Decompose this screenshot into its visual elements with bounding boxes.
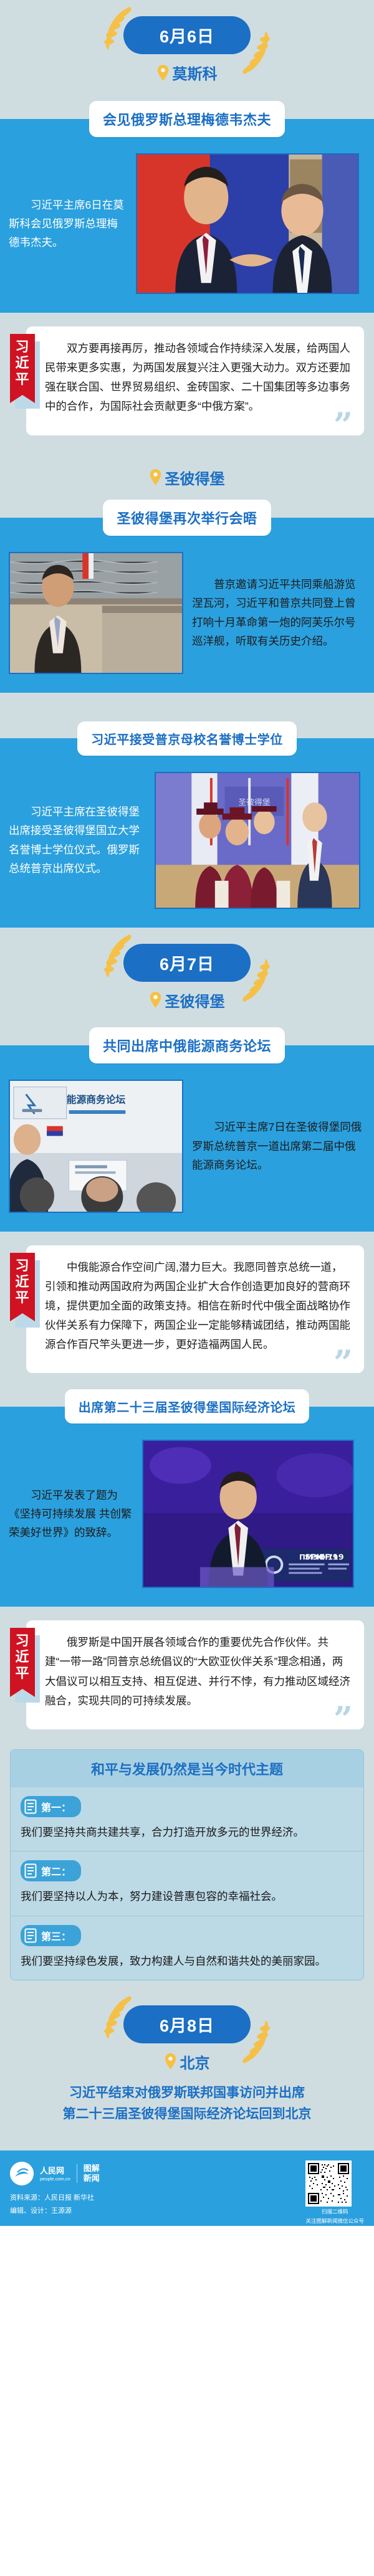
section-title: 圣彼得堡再次举行会晤	[103, 500, 271, 536]
section-3-spacer	[0, 693, 374, 721]
final-title-line1: 习近平结束对俄罗斯联邦国事访问并出席	[0, 2081, 374, 2103]
section-2-content: 普京邀请习近平共同乘船游览涅瓦河，习近平和普京共同登上曾打响十月革命第一炮的阿芙…	[0, 536, 374, 693]
caption-photo-row: 习近平主席在圣彼得堡出席接受圣彼得堡国立大学名誉博士学位仪式。俄罗斯总统普京出席…	[0, 772, 374, 909]
theme-chip: 第二：	[21, 1860, 81, 1881]
location-st-petersburg: 圣彼得堡	[0, 467, 374, 488]
section-4-content: 能源商务论坛 习近平主席7日在圣彼得堡同俄罗斯总统普京一道出席第二届中	[0, 1063, 374, 1232]
section-title: 习近平接受普京母校名誉博士学位	[77, 721, 297, 756]
brand-text: 人民网 people.com.cn	[40, 2166, 70, 2182]
qr-code-image[interactable]	[305, 2160, 352, 2207]
speaker-name-tag: 习近平	[10, 334, 35, 395]
location-moscow: 莫斯科	[0, 62, 374, 83]
photo-caption-row: 能源商务论坛 习近平主席7日在圣彼得堡同俄罗斯总统普京一道出席第二届中	[0, 1080, 374, 1213]
location-pin-icon	[157, 65, 169, 81]
section-3-content: 习近平主席在圣彼得堡出席接受圣彼得堡国立大学名誉博士学位仪式。俄罗斯总统普京出席…	[0, 756, 374, 928]
date-label: 6月7日	[123, 944, 251, 982]
themes-card: 和平与发展仍然是当今时代主题 第一： 我们要坚持共商共建共享，合力打造开放多元的…	[10, 1749, 364, 1980]
date-badge-june8: 6月8日	[0, 1980, 374, 2043]
location-pin-icon	[165, 2053, 176, 2070]
location-label: 莫斯科	[173, 62, 218, 83]
location-beijing: 北京	[0, 2051, 374, 2073]
quote-close-icon: ”	[333, 408, 353, 442]
location-pin-icon	[150, 992, 161, 1008]
caption-text: 习近平主席在圣彼得堡出席接受圣彼得堡国立大学名誉博士学位仪式。俄罗斯总统普京出席…	[9, 802, 146, 877]
theme-chip: 第三：	[21, 1925, 81, 1946]
date-label: 6月8日	[123, 2005, 251, 2043]
theme-text: 我们要坚持共商共建共享，合力打造开放多元的世界经济。	[21, 1823, 353, 1841]
themes-heading: 和平与发展仍然是当今时代主题	[11, 1750, 363, 1787]
theme-chip: 第一：	[21, 1796, 81, 1817]
speaker-name-tag: 习近平	[10, 1253, 35, 1314]
document-icon	[24, 1863, 37, 1878]
qr-caption-line1: 扫描二维码	[305, 2208, 364, 2216]
location-label: 圣彼得堡	[165, 989, 225, 1011]
photo-neva-cruise	[9, 552, 183, 674]
theme-item: 第一： 我们要坚持共商共建共享，合力打造开放多元的世界经济。	[11, 1787, 363, 1851]
location-label: 圣彼得堡	[165, 467, 225, 488]
caption-text: 习近平主席6日在莫斯科会见俄罗斯总理梅德韦杰夫。	[9, 196, 127, 252]
section-5-content: 习近平发表了题为《坚持可持续发展 共创繁荣美好世界》的致辞。 SPIEF'19 …	[0, 1423, 374, 1607]
photo-meeting-medvedev	[136, 153, 359, 294]
svg-text:能源商务论坛: 能源商务论坛	[67, 1093, 126, 1105]
themes-section: 和平与发展仍然是当今时代主题 第一： 我们要坚持共商共建共享，合力打造开放多元的…	[0, 1746, 374, 1980]
document-icon	[24, 1799, 37, 1814]
theme-label: 第一：	[41, 1799, 71, 1814]
caption-text: 习近平主席7日在圣彼得堡同俄罗斯总统普京一道出席第二届中俄能源商务论坛。	[192, 1118, 365, 1174]
date-label: 6月6日	[123, 16, 251, 54]
photo-energy-forum: 能源商务论坛	[9, 1080, 183, 1213]
section-1-header: 6月6日 莫斯科	[0, 0, 374, 101]
final-title-line2: 第二十三届圣彼得堡国际经济论坛回到北京	[0, 2103, 374, 2124]
theme-label: 第三：	[41, 1928, 71, 1943]
caption-text: 习近平发表了题为《坚持可持续发展 共创繁荣美好世界》的致辞。	[9, 1486, 133, 1542]
theme-text: 我们要坚持绿色发展，致力构建人与自然和谐共处的美丽家园。	[21, 1952, 353, 1970]
quote-block-3: 习近平 “ 俄罗斯是中国开展各领域合作的重要优先合作伙伴。共建“一带一路”同普京…	[0, 1607, 374, 1746]
people-daily-logo-icon	[10, 2162, 34, 2185]
caption-photo-row: 习近平主席6日在莫斯科会见俄罗斯总理梅德韦杰夫。	[0, 153, 374, 294]
section-1-content: 习近平主席6日在莫斯科会见俄罗斯总理梅德韦杰夫。	[0, 137, 374, 313]
quote-block-2: 习近平 “ 中俄能源合作空间广阔,潜力巨大。我愿同普京总统一道，引领和推动两国政…	[0, 1232, 374, 1390]
footer-divider	[77, 2164, 77, 2183]
location-pin-icon	[150, 469, 161, 485]
svg-text:圣彼得堡: 圣彼得堡	[238, 797, 271, 807]
theme-item: 第二： 我们要坚持以人为本，努力建设普惠包容的幸福社会。	[11, 1851, 363, 1916]
photo-caption-row: 普京邀请习近平共同乘船游览涅瓦河，习近平和普京共同登上曾打响十月革命第一炮的阿芙…	[0, 552, 374, 674]
date-badge-june6: 6月6日	[0, 0, 374, 54]
svg-text:ПМЭФ'19: ПМЭФ'19	[299, 1553, 338, 1562]
photo-spief-speech: SPIEF'19 ПМЭФ'19	[142, 1440, 354, 1588]
quote-text: 中俄能源合作空间广阔,潜力巨大。我愿同普京总统一道，引领和推动两国政府为两国企业…	[26, 1245, 364, 1374]
caption-photo-row: 习近平发表了题为《坚持可持续发展 共创繁荣美好世界》的致辞。 SPIEF'19 …	[0, 1440, 374, 1588]
qr-code-block[interactable]: 扫描二维码 关注图解新闻微信公众号	[305, 2160, 364, 2225]
final-section: 6月8日 北京	[0, 1980, 374, 2135]
section-title: 出席第二十三届圣彼得堡国际经济论坛	[65, 1389, 310, 1423]
section-title: 会见俄罗斯总理梅德韦杰夫	[89, 101, 285, 137]
theme-text: 我们要坚持以人为本，努力建设普惠包容的幸福社会。	[21, 1888, 353, 1905]
theme-item: 第三： 我们要坚持绿色发展，致力构建人与自然和谐共处的美丽家园。	[11, 1916, 363, 1980]
date-badge-june7: 6月7日	[0, 928, 374, 982]
quote-close-icon: ”	[333, 1346, 353, 1379]
location-st-petersburg: 圣彼得堡	[0, 989, 374, 1011]
section-3-title-wrap: 习近平接受普京母校名誉博士学位	[0, 721, 374, 756]
theme-label: 第二：	[41, 1863, 71, 1878]
section-title: 共同出席中俄能源商务论坛	[89, 1027, 285, 1063]
document-icon	[24, 1928, 37, 1943]
section-4-title-wrap: 共同出席中俄能源商务论坛	[0, 1027, 374, 1063]
infographic-page: 6月6日 莫斯科	[0, 0, 374, 2226]
brand-secondary: 图解 新闻	[84, 2164, 100, 2184]
section-2-header: 圣彼得堡	[0, 452, 374, 500]
speaker-name-tag: 习近平	[10, 1628, 35, 1689]
qr-caption-line2: 关注图解新闻微信公众号	[305, 2218, 364, 2225]
quote-text: 俄罗斯是中国开展各领域合作的重要优先合作伙伴。共建“一带一路”同普京总统倡议的“…	[26, 1620, 364, 1729]
quote-close-icon: ”	[333, 1702, 353, 1736]
section-2-title-wrap: 圣彼得堡再次举行会晤	[0, 500, 374, 536]
photo-doctorate-ceremony: 圣彼得堡	[155, 772, 360, 909]
section-5-title-wrap: 出席第二十三届圣彼得堡国际经济论坛	[0, 1389, 374, 1423]
quote-text: 双方要再接再厉，推动各领域合作持续深入发展，给两国人民带来更多实惠，为两国发展复…	[26, 326, 364, 435]
section-4-header: 6月7日 圣彼得堡	[0, 928, 374, 1027]
caption-text: 普京邀请习近平共同乘船游览涅瓦河，习近平和普京共同登上曾打响十月革命第一炮的阿芙…	[192, 575, 365, 650]
page-footer: 人民网 people.com.cn 图解 新闻 资料来源：人民日报 新华社 编辑…	[0, 2151, 374, 2226]
quote-block-1: 习近平 “ 双方要再接再厉，推动各领域合作持续深入发展，给两国人民带来更多实惠，…	[0, 313, 374, 452]
location-label: 北京	[180, 2051, 210, 2073]
section-1-title-wrap: 会见俄罗斯总理梅德韦杰夫	[0, 101, 374, 137]
